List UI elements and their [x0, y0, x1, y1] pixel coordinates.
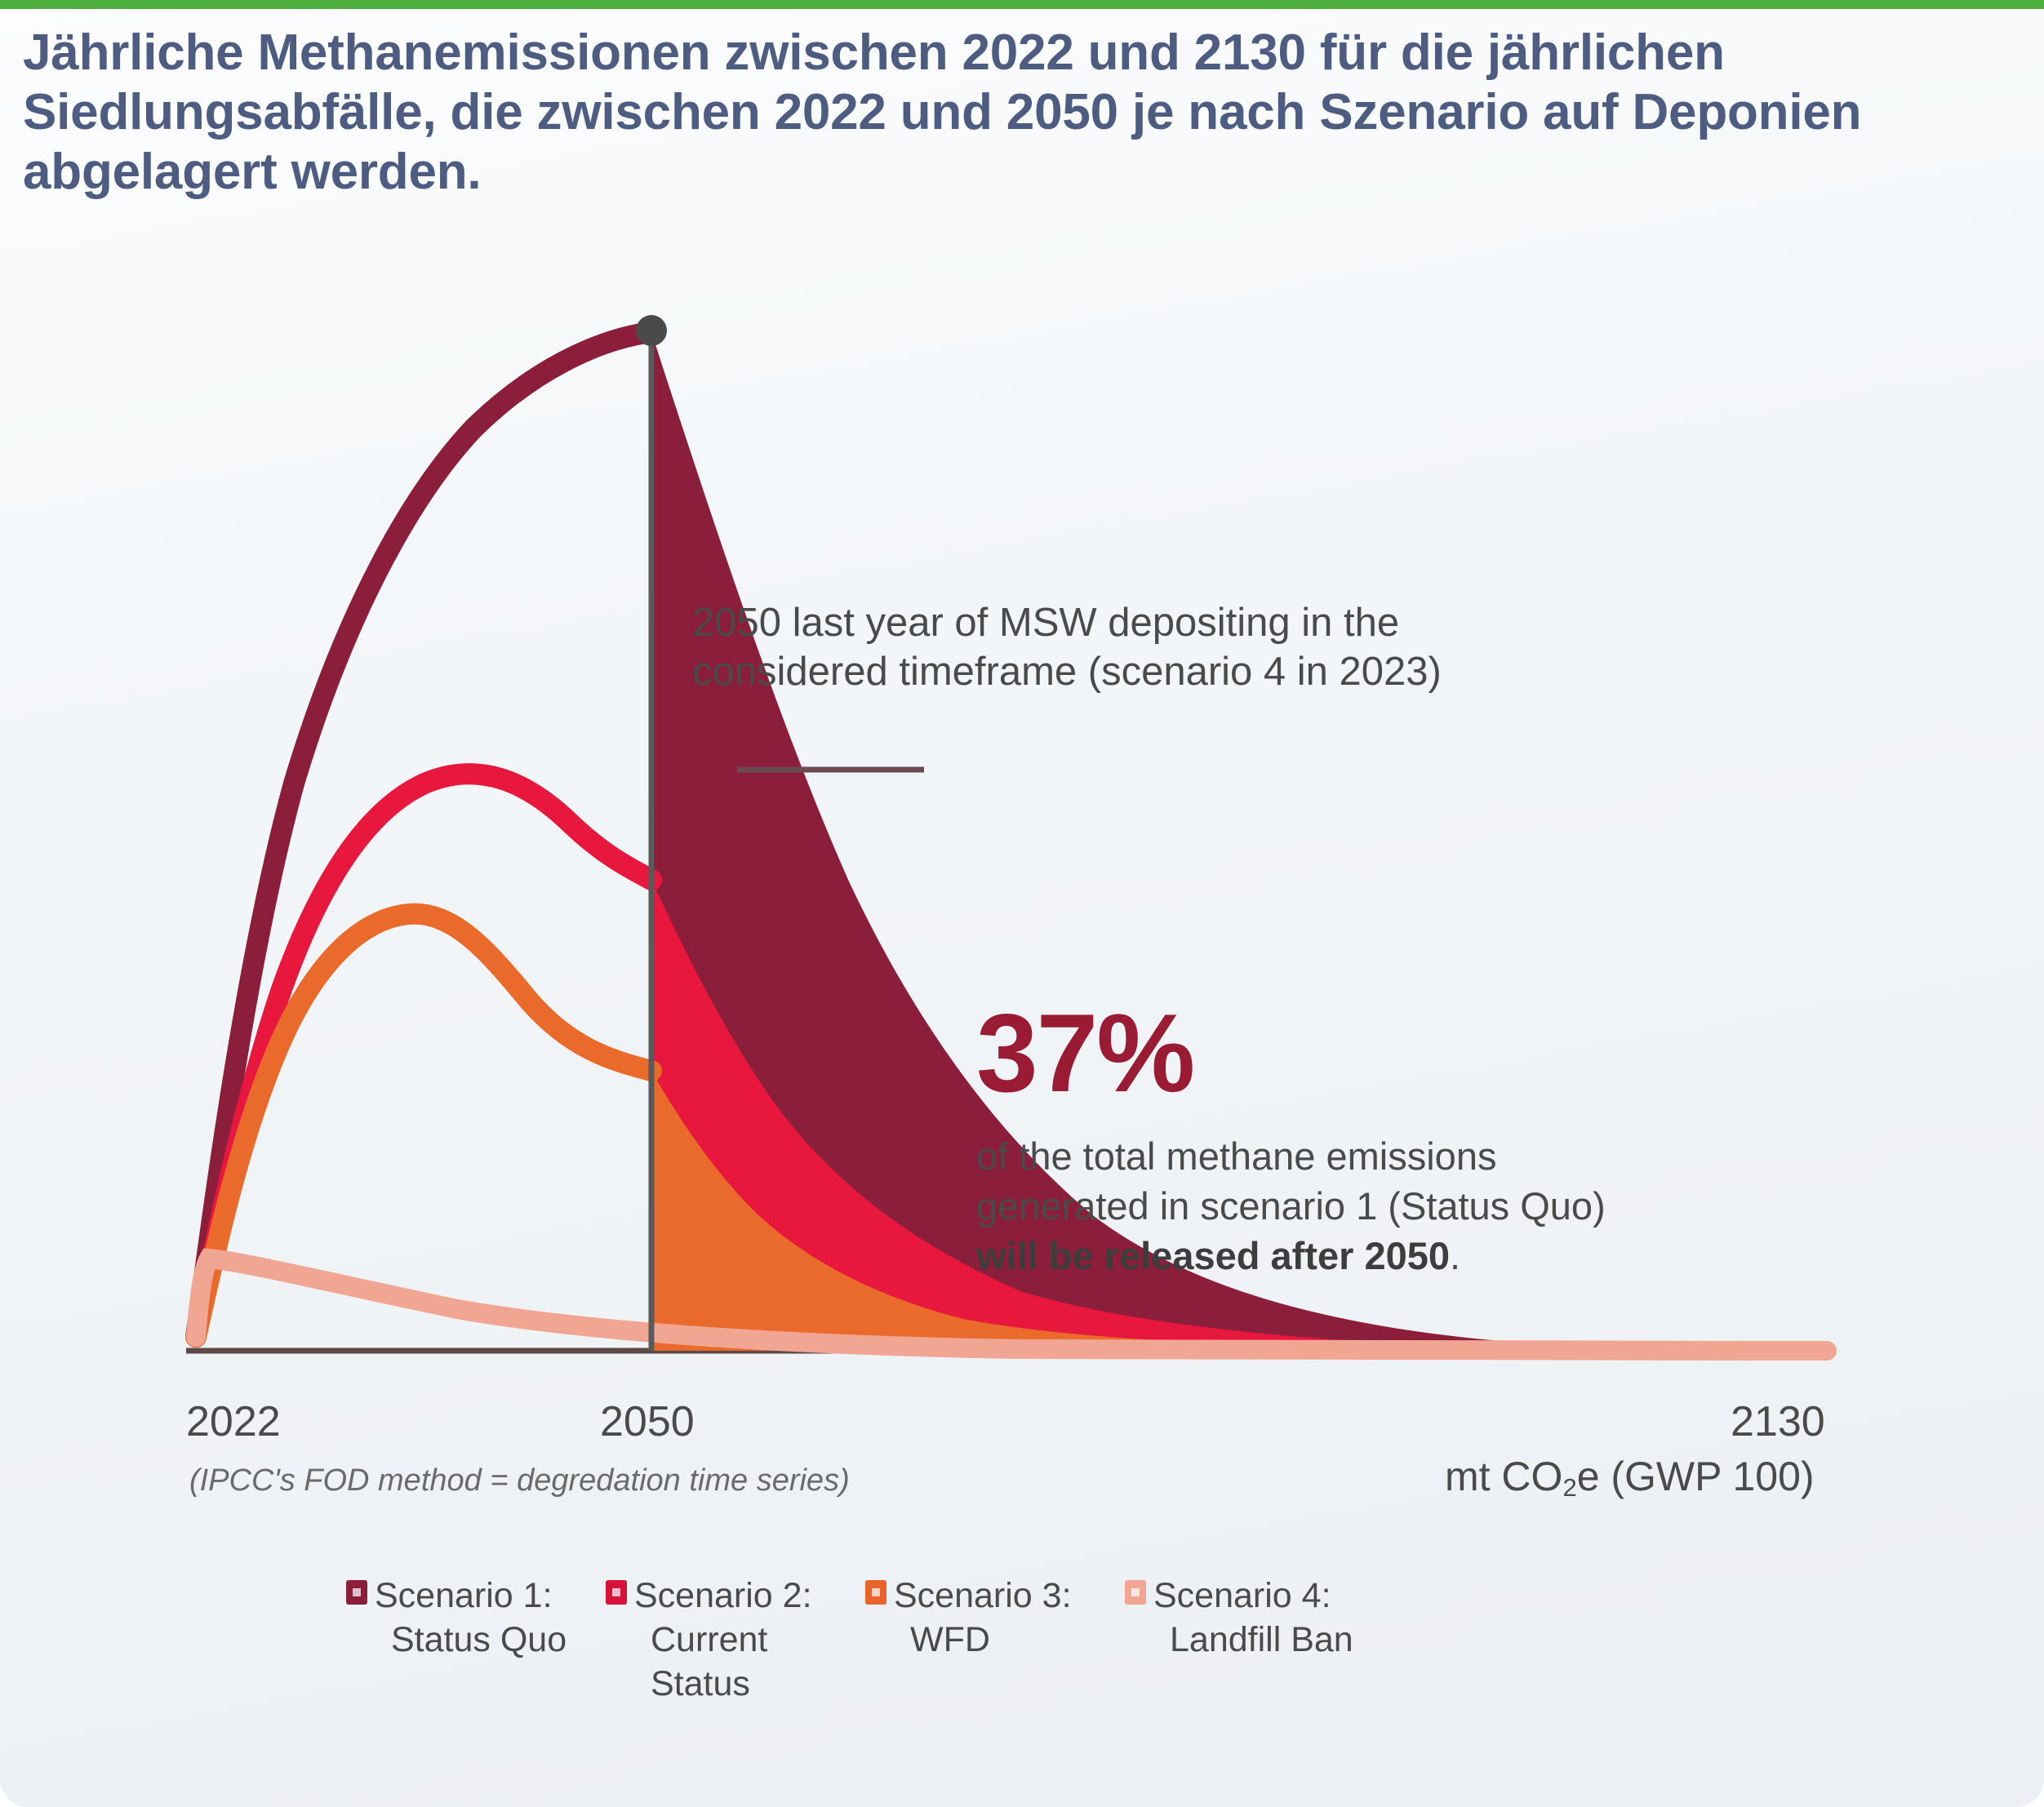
marker-2050-dot [636, 315, 667, 346]
unit-prefix: mt CO [1445, 1454, 1562, 1499]
unit-label: mt CO2e (GWP 100) [1445, 1453, 1815, 1503]
method-footnote: (IPCC's FOD method = degredation time se… [189, 1463, 850, 1498]
legend-label-scenario-1-sub: Status Quo [375, 1618, 567, 1662]
callout-percent-value: 37% [976, 997, 1940, 1108]
legend-label-scenario-4-name: Scenario 4: [1153, 1576, 1331, 1615]
legend-label-scenario-2-sub: Current Status [634, 1618, 865, 1706]
marker-2050-annotation-line1: 2050 last year of MSW depositing in the [692, 599, 1713, 648]
callout-description: of the total methane emissions generated… [976, 1131, 1940, 1281]
legend-label-scenario-2-name: Scenario 2: [634, 1576, 812, 1615]
legend-swatch-icon-scenario-2 [606, 1580, 627, 1605]
callout-line-1: of the total methane emissions [976, 1131, 1940, 1181]
chart-area: 2050 last year of MSW depositing in the … [0, 294, 2044, 1436]
legend-label-scenario-3-name: Scenario 3: [894, 1576, 1072, 1615]
legend-label-scenario-4: Scenario 4: Landfill Ban [1153, 1574, 1353, 1662]
x-axis-label-start: 2022 [186, 1397, 281, 1446]
callout-line-3-tail: . [1450, 1234, 1460, 1277]
x-axis-label-mid: 2050 [600, 1397, 695, 1446]
marker-2050-annotation-line2: considered timeframe (scenario 4 in 2023… [692, 648, 1713, 697]
chart-card: Jährliche Methanemissionen zwischen 2022… [0, 0, 2044, 1807]
x-axis-label-end: 2130 [1731, 1397, 1825, 1446]
marker-2050-annotation: 2050 last year of MSW depositing in the … [692, 599, 1713, 697]
chart-legend: Scenario 1: Status Quo Scenario 2: Curre… [346, 1574, 1815, 1707]
legend-label-scenario-4-sub: Landfill Ban [1153, 1618, 1353, 1662]
callout-line-3: will be released after 2050. [976, 1231, 1940, 1281]
page-title: Jährliche Methanemissionen zwischen 2022… [23, 23, 1900, 202]
legend-swatch-icon-scenario-3 [865, 1580, 886, 1605]
legend-label-scenario-1-name: Scenario 1: [375, 1576, 553, 1615]
legend-label-scenario-3: Scenario 3: WFD [894, 1574, 1072, 1662]
legend-swatch-icon-scenario-4 [1125, 1580, 1146, 1605]
legend-label-scenario-3-sub: WFD [894, 1618, 1072, 1662]
legend-item-scenario-1[interactable]: Scenario 1: Status Quo [346, 1574, 606, 1707]
callout-line-3-bold: will be released after 2050 [976, 1234, 1450, 1277]
accent-top-border [0, 0, 2044, 9]
legend-item-scenario-2[interactable]: Scenario 2: Current Status [606, 1574, 865, 1707]
legend-label-scenario-1: Scenario 1: Status Quo [375, 1574, 567, 1662]
legend-label-scenario-2: Scenario 2: Current Status [634, 1574, 865, 1707]
legend-item-scenario-4[interactable]: Scenario 4: Landfill Ban [1125, 1574, 1384, 1707]
legend-item-scenario-3[interactable]: Scenario 3: WFD [865, 1574, 1125, 1707]
unit-suffix: e (GWP 100) [1577, 1454, 1815, 1499]
legend-swatch-icon-scenario-1 [346, 1580, 367, 1605]
callout-line-2: generated in scenario 1 (Status Quo) [976, 1181, 1940, 1231]
unit-subscript: 2 [1562, 1473, 1576, 1502]
percent-callout: 37% of the total methane emissions gener… [976, 997, 1940, 1281]
